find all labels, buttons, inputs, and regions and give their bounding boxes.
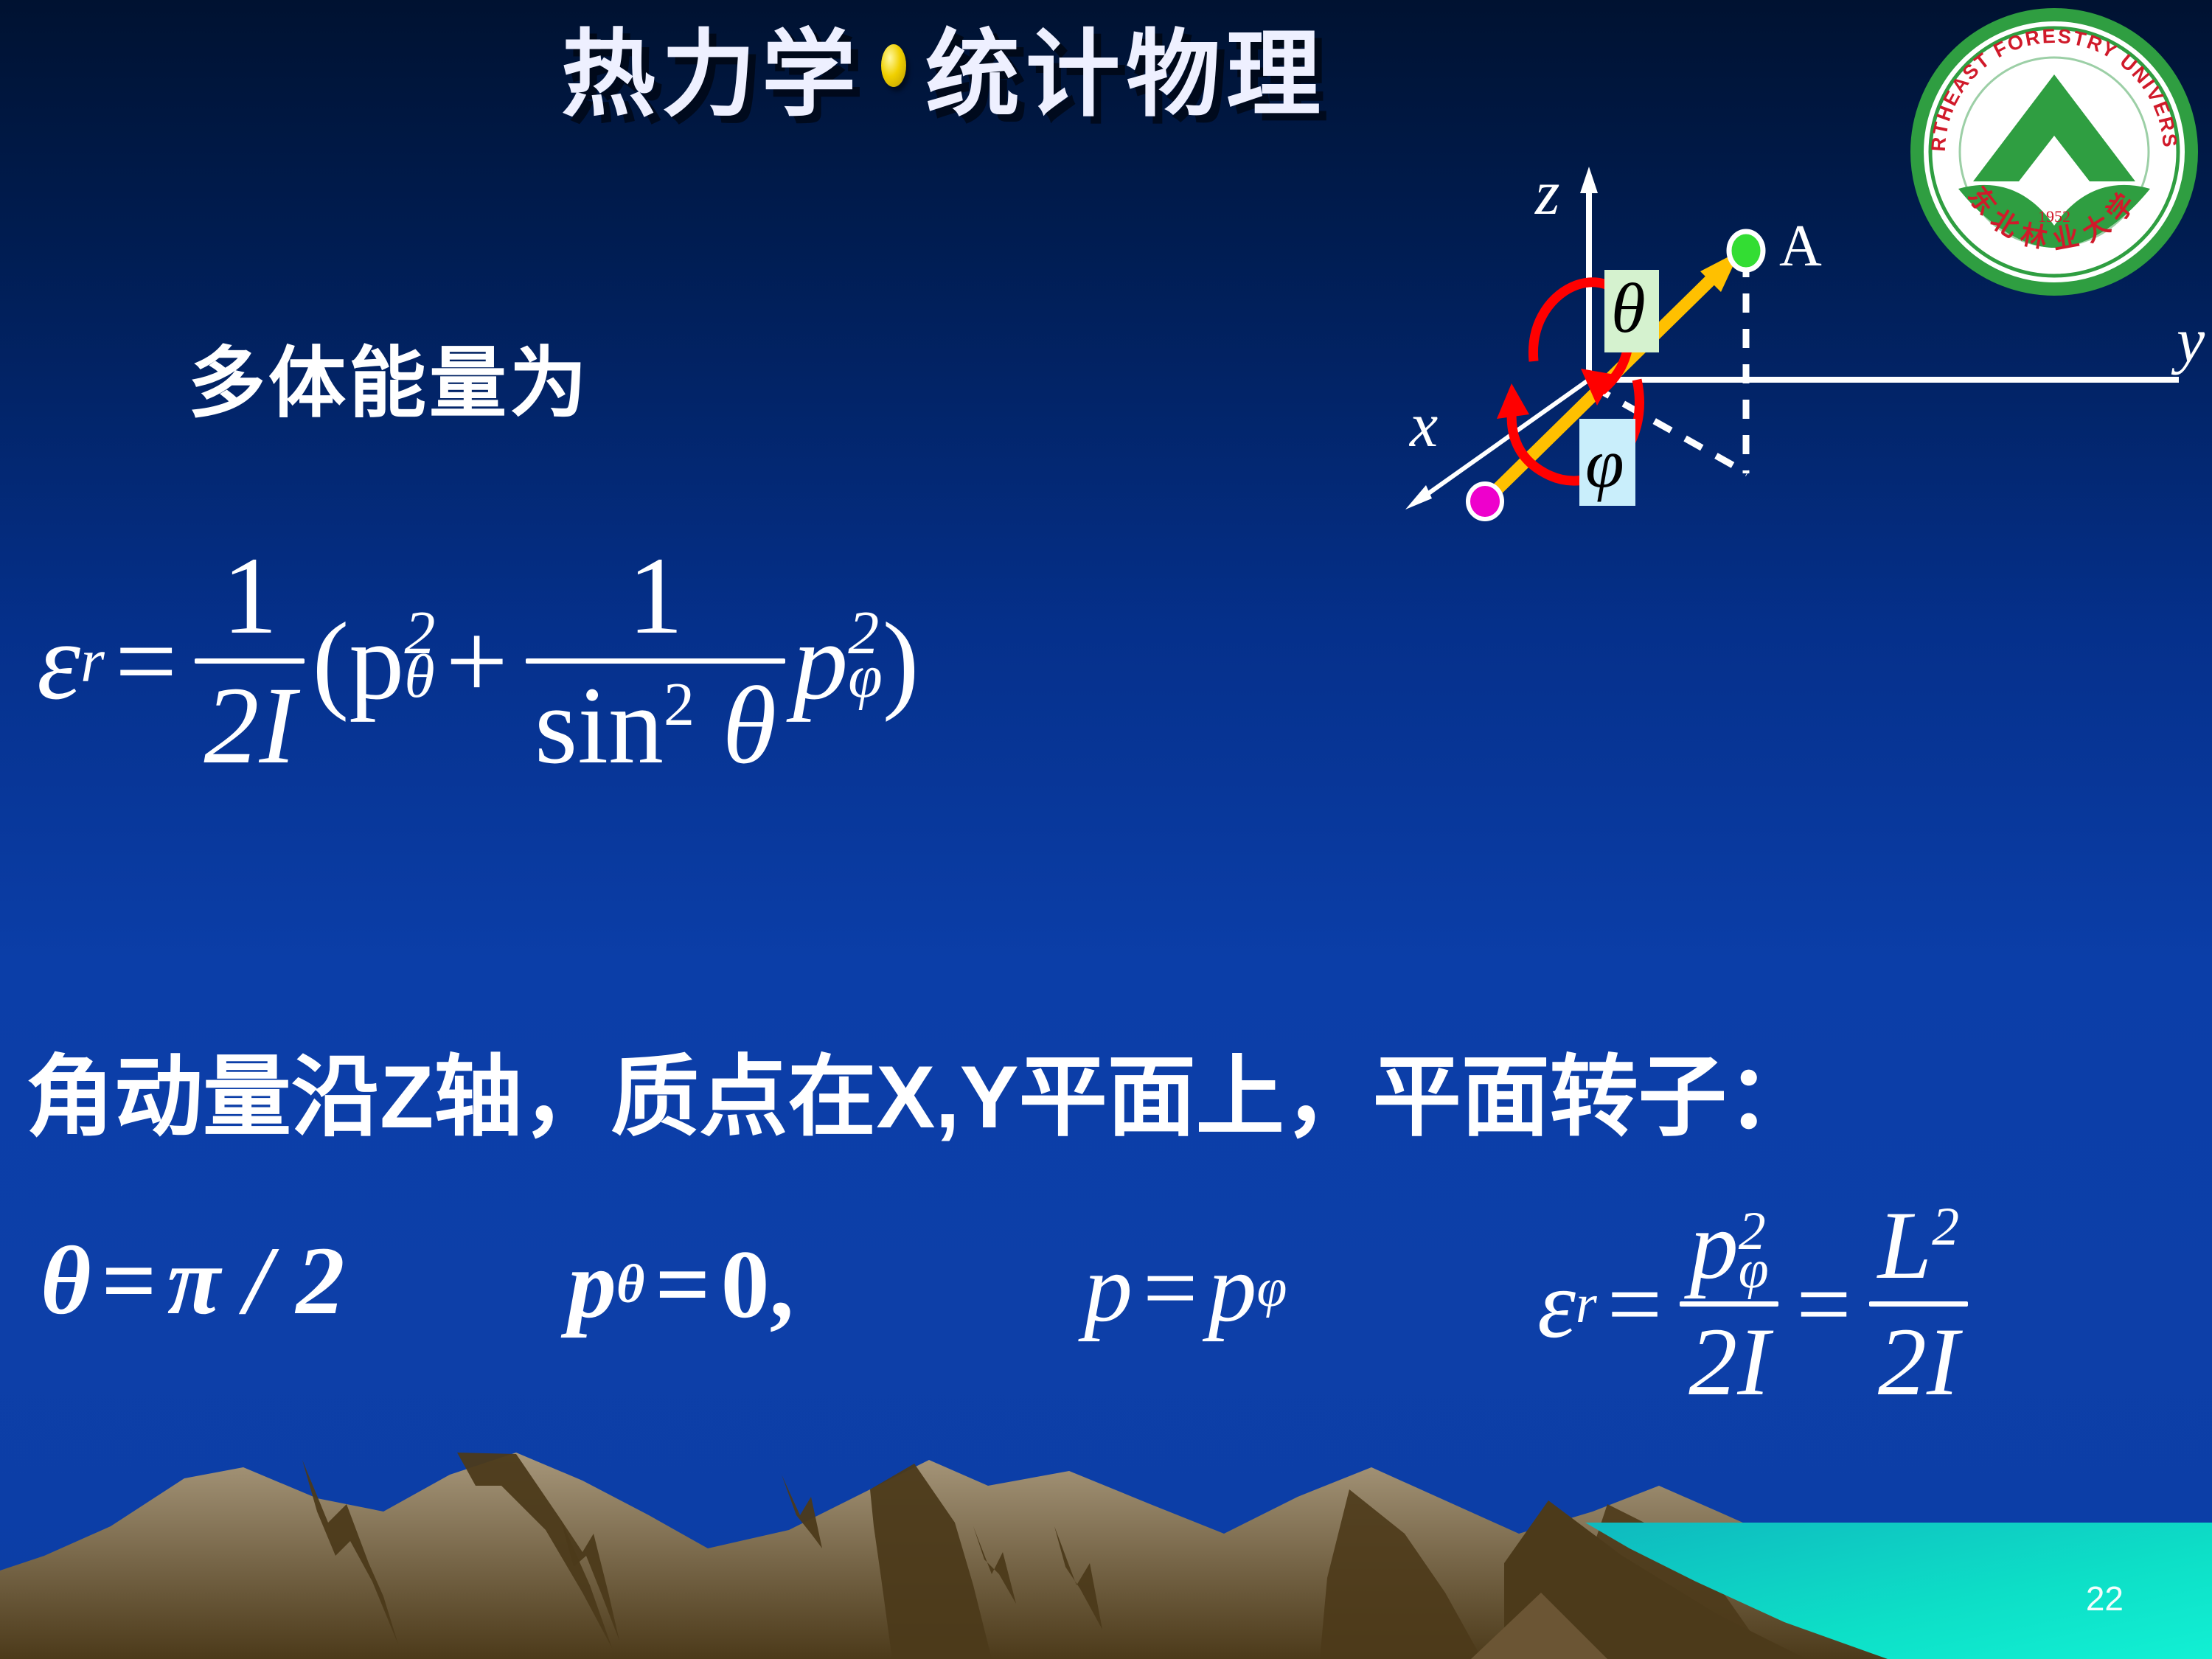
title-part-2: 统计物理 xyxy=(925,0,1326,134)
statement-angular-momentum: 角动量沿Z轴，质点在X,Y平面上，平面转子： xyxy=(26,1025,1815,1153)
eq-ptheta-var: p xyxy=(568,1228,616,1340)
eq-main-frac2-den: sin2 θ xyxy=(526,668,785,784)
point-a-label: A xyxy=(1779,214,1822,279)
point-a-marker xyxy=(1729,232,1763,270)
eq-main-sin: sin xyxy=(535,664,664,787)
eq-main-frac1-num: 1 xyxy=(213,538,286,654)
eq-main-p-theta: p xyxy=(349,598,404,725)
eq-eps2-num1-var: p xyxy=(1690,1191,1739,1299)
heading-many-body-energy: 多体能量为 xyxy=(188,321,590,433)
eq-eps2-num1: p 2 φ xyxy=(1681,1194,1778,1297)
fraction-bar xyxy=(1869,1301,1968,1307)
point-b-marker xyxy=(1468,484,1502,519)
fraction-bar xyxy=(195,658,305,664)
eq-main-fraction-1: 1 2I xyxy=(195,538,305,784)
title-part-1: 热力学 xyxy=(561,0,862,134)
eq-eps2-num1-sub: φ xyxy=(1739,1245,1769,1294)
eq-p-rhs: p xyxy=(1208,1231,1256,1344)
eq-eps2-epsilon: ε xyxy=(1537,1248,1576,1360)
theta-label: θ xyxy=(1611,269,1646,347)
eq-theta-equals: = xyxy=(102,1224,157,1337)
x-axis-label: x xyxy=(1408,389,1438,460)
eq-main-frac2-num: 1 xyxy=(619,538,692,654)
eq-eps2-fraction-2: L2 2I xyxy=(1869,1194,1968,1413)
y-axis-label: y xyxy=(2171,305,2205,375)
eq-main-frac1-den: 2I xyxy=(195,668,305,784)
equation-rotational-energy: εr = 1 2I ( p 2 θ + 1 sin2 θ p 2 xyxy=(37,538,919,784)
gold-dot-icon xyxy=(881,44,906,87)
eq-main-open-paren: ( xyxy=(312,598,349,725)
eq-theta-value: π / 2 xyxy=(167,1224,345,1337)
fraction-bar xyxy=(1680,1301,1778,1307)
eq-p-lhs: p xyxy=(1084,1231,1133,1344)
slide-title: 热力学 统计物理 xyxy=(0,0,1888,136)
equation-theta-value: θ = π / 2 xyxy=(41,1224,344,1337)
eq-eps2-epsilon-sup: r xyxy=(1576,1273,1597,1335)
eq-main-epsilon-sup: r xyxy=(80,625,105,697)
fraction-bar xyxy=(526,658,785,664)
z-axis-label: z xyxy=(1534,157,1559,228)
eq-p-equals: = xyxy=(1143,1231,1197,1344)
eq-eps2-num2: L2 xyxy=(1869,1194,1968,1297)
eq-main-epsilon: ε xyxy=(37,598,80,725)
spherical-coordinates-rotor-diagram: θ φ A z y x xyxy=(1253,140,2212,568)
z-axis-arrowhead xyxy=(1580,167,1598,193)
eq-ptheta-sub: θ xyxy=(616,1253,644,1315)
eq-main-plus: + xyxy=(445,598,508,725)
eq-main-sin-var: θ xyxy=(723,664,777,787)
eq-main-equals: = xyxy=(115,598,178,725)
slide-canvas: 热力学 统计物理 1952 NORTHEAST FORESTRY UNIVERS… xyxy=(0,0,2212,1659)
equation-p-equals-pphi: p = pφ xyxy=(1084,1231,1287,1344)
eq-eps2-den1: 2I xyxy=(1680,1311,1778,1413)
page-number: 22 xyxy=(2086,1579,2124,1618)
equation-p-theta-zero: pθ = 0, xyxy=(568,1228,794,1340)
eq-main-p-theta-sub: θ xyxy=(404,649,435,705)
footer-decoration: 22 xyxy=(0,1445,2212,1659)
eq-ptheta-value: 0, xyxy=(721,1228,794,1340)
equation-energy-result: εr = p 2 φ 2I = L2 2I xyxy=(1537,1194,1975,1413)
eq-main-p-phi-sub: φ xyxy=(848,649,882,705)
eq-eps2-equals-1: = xyxy=(1607,1248,1662,1360)
eq-ptheta-equals: = xyxy=(655,1228,710,1340)
eq-eps2-den2: 2I xyxy=(1869,1311,1968,1413)
eq-p-rhs-sub: φ xyxy=(1256,1256,1287,1319)
phi-label: φ xyxy=(1585,424,1624,502)
eq-main-p-phi: p xyxy=(793,598,848,725)
eq-eps2-fraction-1: p 2 φ 2I xyxy=(1680,1194,1778,1413)
eq-eps2-equals-2: = xyxy=(1796,1248,1851,1360)
eq-theta-var: θ xyxy=(41,1224,91,1337)
eq-eps2-num2-sup: 2 xyxy=(1932,1196,1959,1256)
x-axis-arrowhead xyxy=(1405,485,1432,509)
eq-eps2-num2-var: L xyxy=(1878,1191,1932,1299)
eq-main-close-paren: ) xyxy=(883,598,919,725)
phi-arc-arrowhead xyxy=(1497,383,1529,419)
eq-main-sin-sup: 2 xyxy=(664,670,695,739)
eq-main-fraction-2: 1 sin2 θ xyxy=(526,538,785,784)
